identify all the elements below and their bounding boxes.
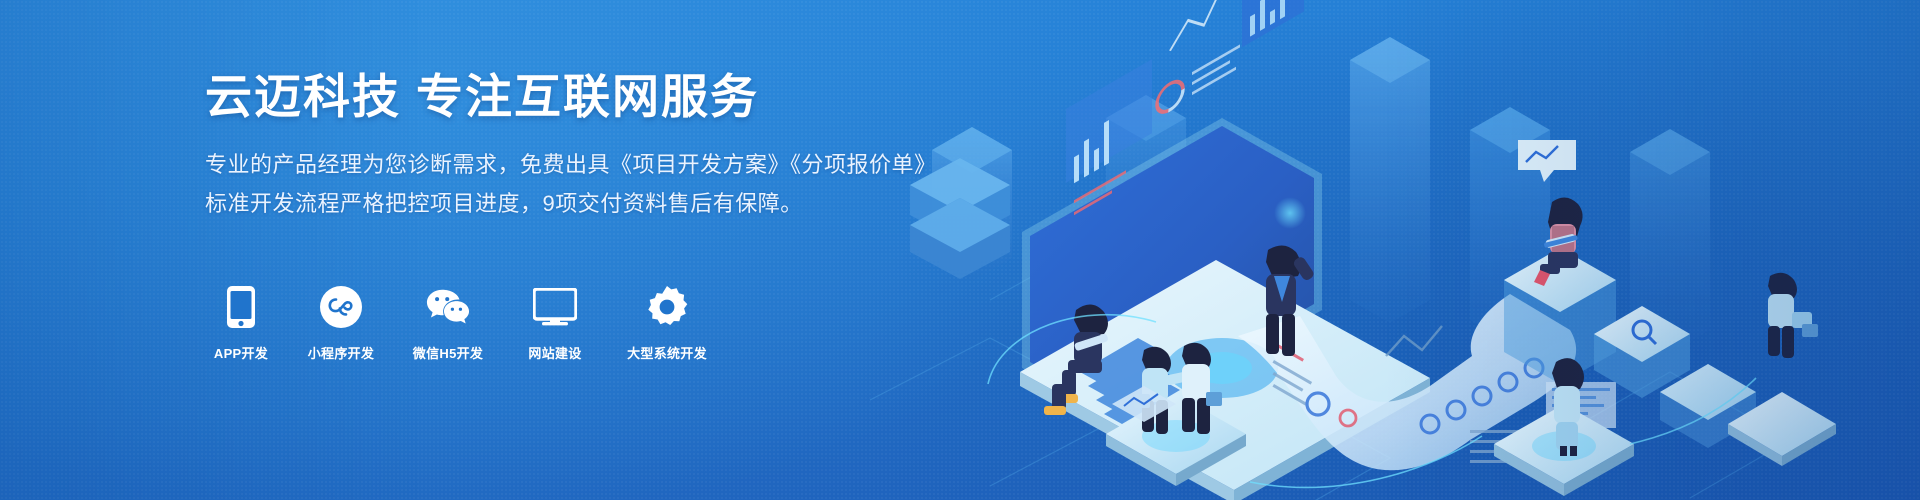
service-label-large-system: 大型系统开发 [627,343,707,362]
subtitle-line-2: 标准开发流程严格把控项目进度，9项交付资料售后有保障。 [205,185,925,224]
copy-block: 云迈科技 专注互联网服务 专业的产品经理为您诊断需求，免费出具《项目开发方案》《… [205,70,925,223]
monitor-icon [533,285,577,329]
service-item-large-system[interactable]: 大型系统开发 [619,285,715,362]
subtitle-line-1: 专业的产品经理为您诊断需求，免费出具《项目开发方案》《分项报价单》 [205,146,925,185]
gear-icon [645,285,689,329]
service-label-wechat-h5: 微信H5开发 [413,343,483,362]
isometric-illustration [870,0,1920,500]
service-label-website: 网站建设 [528,343,581,362]
service-label-mini-program: 小程序开发 [308,343,375,362]
wechat-icon [426,285,470,329]
service-label-app: APP开发 [214,343,268,362]
page-title: 云迈科技 专注互联网服务 [205,70,925,124]
service-item-app[interactable]: APP开发 [205,285,277,362]
promo-banner: 云迈科技 专注互联网服务 专业的产品经理为您诊断需求，免费出具《项目开发方案》《… [0,0,1920,500]
walking-man-with-briefcase [1768,273,1818,358]
mini-program-icon [319,285,363,329]
service-item-wechat-h5[interactable]: 微信H5开发 [405,285,491,362]
service-item-mini-program[interactable]: 小程序开发 [301,285,381,362]
service-list: APP开发 小程序开发 [205,285,715,362]
subtitle-block: 专业的产品经理为您诊断需求，免费出具《项目开发方案》《分项报价单》 标准开发流程… [205,146,925,223]
service-item-website[interactable]: 网站建设 [515,285,595,362]
mobile-phone-icon [219,285,263,329]
